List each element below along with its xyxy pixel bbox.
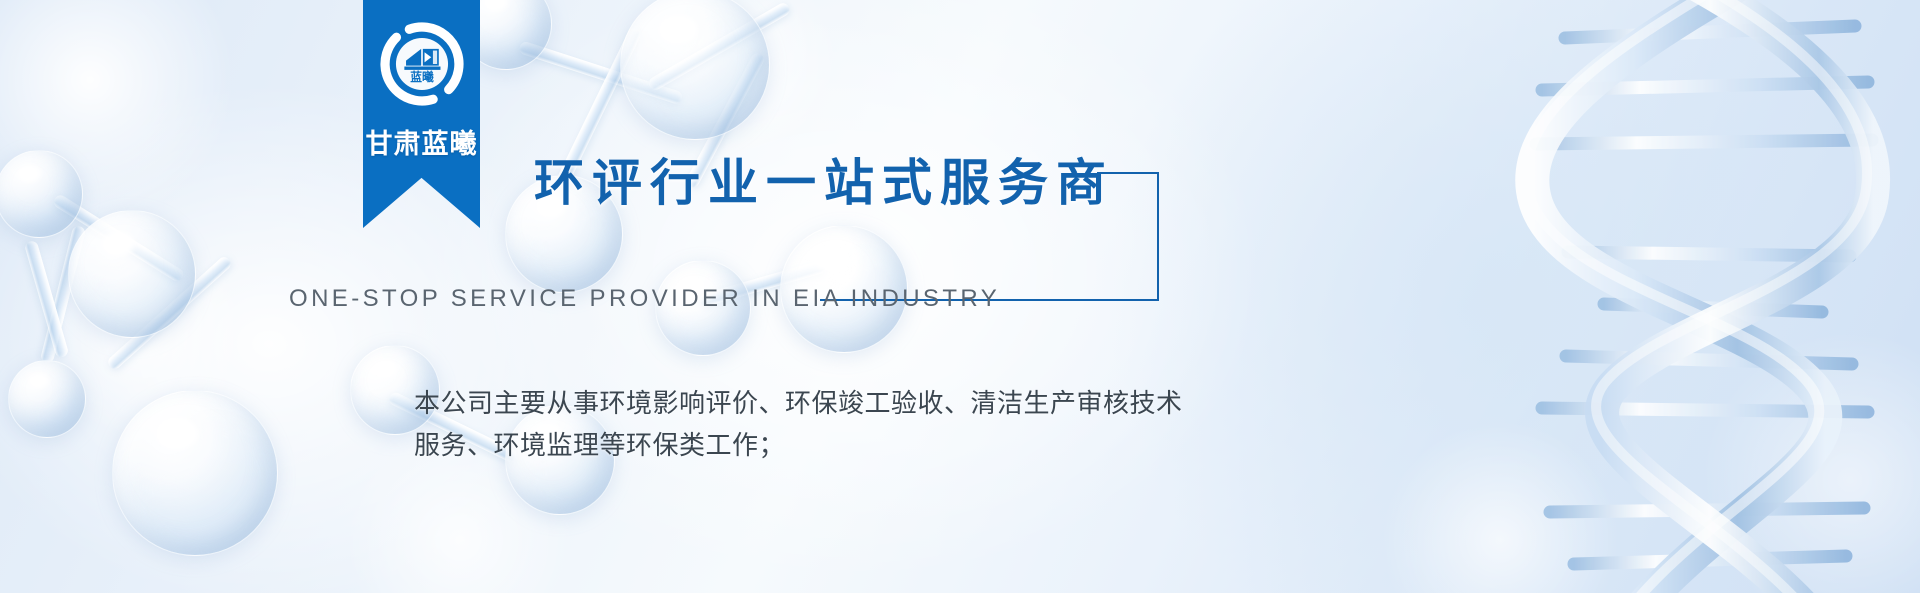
accent-bracket-vertical [1157, 172, 1159, 301]
molecule-atom [112, 390, 278, 556]
molecule-bond [52, 193, 186, 284]
company-name: 甘肃蓝曦 [363, 122, 480, 161]
molecule-bond [24, 240, 70, 359]
molecule-atom [620, 0, 770, 140]
bokeh-glow [0, 0, 240, 230]
accent-bracket-top [1097, 172, 1159, 174]
molecule-atom [68, 210, 196, 338]
molecule-bond [40, 225, 86, 364]
molecule-bond [106, 255, 234, 372]
bokeh-glow [1380, 420, 1620, 593]
molecule-bond [518, 40, 684, 105]
brand-ribbon: 蓝曦 甘肃蓝曦 [363, 0, 480, 228]
company-logo-icon: 蓝曦 [380, 22, 464, 106]
bokeh-glow [40, 230, 250, 440]
molecule-atom [0, 150, 83, 238]
hero-banner: 蓝曦 甘肃蓝曦 环评行业一站式服务商 ONE-STOP SERVICE PROV… [0, 0, 1920, 593]
body-description: 本公司主要从事环境影响评价、环保竣工验收、清洁生产审核技术 服务、环境监理等环保… [414, 383, 1183, 467]
dna-helix-icon [1360, 0, 1920, 593]
molecule-bond [647, 1, 792, 92]
page-title: 环评行业一站式服务商 [534, 143, 1114, 215]
subtitle-english: ONE-STOP SERVICE PROVIDER IN EIA INDUSTR… [289, 285, 1000, 313]
molecule-atom [8, 360, 86, 438]
logo-mark-text: 蓝曦 [410, 70, 434, 84]
bokeh-glow [1700, 330, 1920, 593]
bokeh-glow [640, 0, 840, 160]
subtitle-row: ONE-STOP SERVICE PROVIDER IN EIA INDUSTR… [289, 285, 1000, 313]
